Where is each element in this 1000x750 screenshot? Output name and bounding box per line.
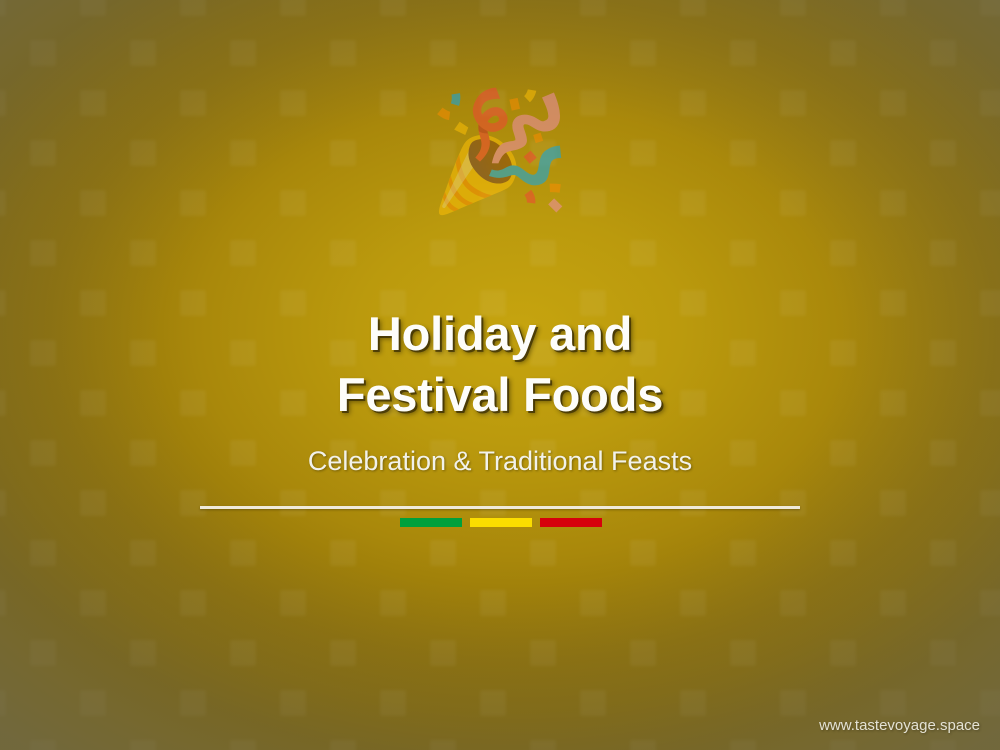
accent-bar-green	[400, 518, 462, 527]
accent-bar-red	[540, 518, 602, 527]
title-divider	[200, 506, 800, 509]
footer-url: www.tastevoyage.space	[819, 716, 980, 736]
page-subtitle: Celebration & Traditional Feasts	[0, 444, 1000, 478]
title-slide: 🎉 Holiday and Festival Foods Celebration…	[0, 0, 1000, 750]
party-popper-icon: 🎉	[0, 86, 1000, 216]
accent-bar-yellow	[470, 518, 532, 527]
page-title: Holiday and Festival Foods	[0, 303, 1000, 425]
slide-content: 🎉 Holiday and Festival Foods Celebration…	[0, 0, 1000, 750]
accent-bar-group	[400, 518, 602, 527]
